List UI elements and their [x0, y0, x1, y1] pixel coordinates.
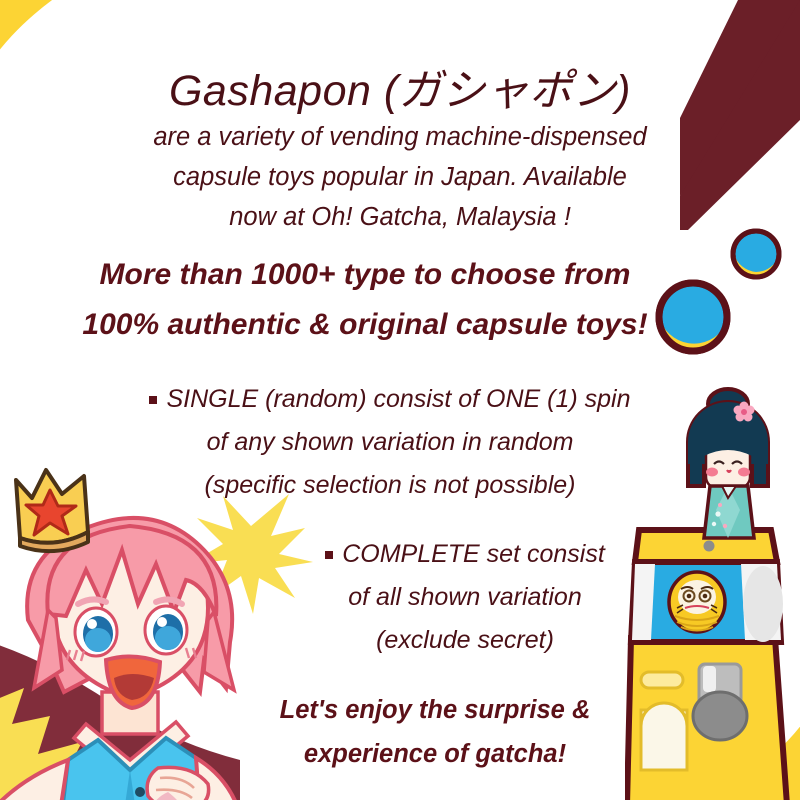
bullet-single-line-1: SINGLE (random) consist of ONE (1) spin	[120, 378, 660, 421]
bullet-complete-block: COMPLETE set consist of all shown variat…	[265, 533, 665, 662]
headline-line-1: More than 1000+ type to choose from	[40, 250, 690, 300]
gashapon-promo-poster: Gashapon (ガシャポン) are a variety of vendin…	[0, 0, 800, 800]
bullet-complete-line-2: of all shown variation	[265, 576, 665, 619]
intro-line-3: now at Oh! Gatcha, Malaysia !	[100, 197, 700, 237]
bullet-complete-line-3: (exclude secret)	[265, 619, 665, 662]
square-bullet-icon	[325, 551, 333, 559]
closing-line-1: Let's enjoy the surprise &	[225, 688, 645, 732]
poster-text-content: Gashapon (ガシャポン) are a variety of vendin…	[0, 0, 800, 800]
bullet-single-block: SINGLE (random) consist of ONE (1) spin …	[120, 378, 660, 507]
intro-paragraph: are a variety of vending machine-dispens…	[100, 117, 700, 237]
square-bullet-icon	[149, 396, 157, 404]
intro-line-1: are a variety of vending machine-dispens…	[100, 117, 700, 157]
page-title: Gashapon (ガシャポン)	[0, 56, 800, 118]
closing-line-2: experience of gatcha!	[225, 732, 645, 776]
headline-block: More than 1000+ type to choose from 100%…	[40, 250, 690, 350]
bullet-single-line-2: of any shown variation in random	[120, 421, 660, 464]
bullet-complete-text-1: COMPLETE set consist	[342, 540, 605, 568]
closing-block: Let's enjoy the surprise & experience of…	[225, 688, 645, 776]
intro-line-2: capsule toys popular in Japan. Available	[100, 157, 700, 197]
bullet-single-line-3: (specific selection is not possible)	[120, 464, 660, 507]
headline-line-2: 100% authentic & original capsule toys!	[40, 300, 690, 350]
bullet-complete-line-1: COMPLETE set consist	[265, 533, 665, 576]
bullet-single-text-1: SINGLE (random) consist of ONE (1) spin	[166, 385, 630, 413]
